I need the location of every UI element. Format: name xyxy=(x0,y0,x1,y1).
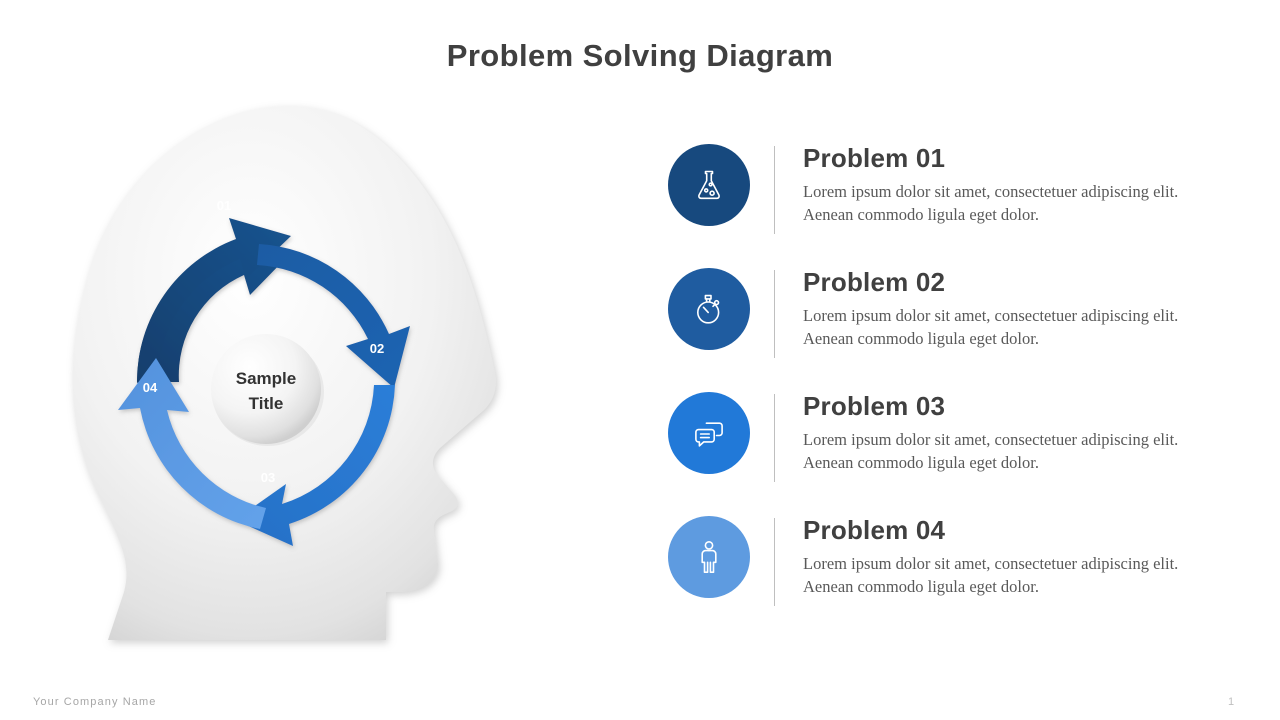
problem-body-03: Lorem ipsum dolor sit amet, consectetuer… xyxy=(803,428,1203,475)
head-cycle-graphic: 01 02 03 04 Sample Title xyxy=(46,92,586,662)
problem-text-02: Problem 02 Lorem ipsum dolor sit amet, c… xyxy=(803,266,1203,350)
problem-row-03[interactable]: Problem 03 Lorem ipsum dolor sit amet, c… xyxy=(668,390,1248,514)
chat-bubbles-icon xyxy=(689,413,729,453)
cycle-step-label-03: 03 xyxy=(261,470,275,485)
center-title-line1: Sample xyxy=(236,369,296,388)
problem-heading-04: Problem 04 xyxy=(803,516,1203,546)
problem-body-01: Lorem ipsum dolor sit amet, consectetuer… xyxy=(803,180,1203,227)
cycle-step-label-04: 04 xyxy=(143,380,158,395)
footer-page-number: 1 xyxy=(1228,696,1234,708)
problem-heading-01: Problem 01 xyxy=(803,144,1203,174)
problem-body-04: Lorem ipsum dolor sit amet, consectetuer… xyxy=(803,552,1203,599)
problem-text-01: Problem 01 Lorem ipsum dolor sit amet, c… xyxy=(803,142,1203,226)
page-title: Problem Solving Diagram xyxy=(0,38,1280,74)
row-divider-01 xyxy=(774,146,775,234)
cycle-step-label-01: 01 xyxy=(217,198,231,213)
problem-body-02: Lorem ipsum dolor sit amet, consectetuer… xyxy=(803,304,1203,351)
row-divider-02 xyxy=(774,270,775,358)
stopwatch-icon xyxy=(689,289,729,329)
footer-company-name: Your Company Name xyxy=(33,696,156,708)
problem-row-04[interactable]: Problem 04 Lorem ipsum dolor sit amet, c… xyxy=(668,514,1248,638)
problem-icon-circle-03[interactable] xyxy=(668,392,750,474)
problem-row-02[interactable]: Problem 02 Lorem ipsum dolor sit amet, c… xyxy=(668,266,1248,390)
problem-text-04: Problem 04 Lorem ipsum dolor sit amet, c… xyxy=(803,514,1203,598)
row-divider-04 xyxy=(774,518,775,606)
problem-icon-circle-04[interactable] xyxy=(668,516,750,598)
flask-icon xyxy=(689,165,729,205)
problem-heading-02: Problem 02 xyxy=(803,268,1203,298)
row-divider-03 xyxy=(774,394,775,482)
problem-heading-03: Problem 03 xyxy=(803,392,1203,422)
problem-list: Problem 01 Lorem ipsum dolor sit amet, c… xyxy=(668,142,1248,638)
center-title-line2: Title xyxy=(249,394,284,413)
problem-icon-circle-01[interactable] xyxy=(668,144,750,226)
problem-text-03: Problem 03 Lorem ipsum dolor sit amet, c… xyxy=(803,390,1203,474)
cycle-step-label-02: 02 xyxy=(370,341,384,356)
problem-row-01[interactable]: Problem 01 Lorem ipsum dolor sit amet, c… xyxy=(668,142,1248,266)
person-icon xyxy=(689,537,729,577)
problem-icon-circle-02[interactable] xyxy=(668,268,750,350)
